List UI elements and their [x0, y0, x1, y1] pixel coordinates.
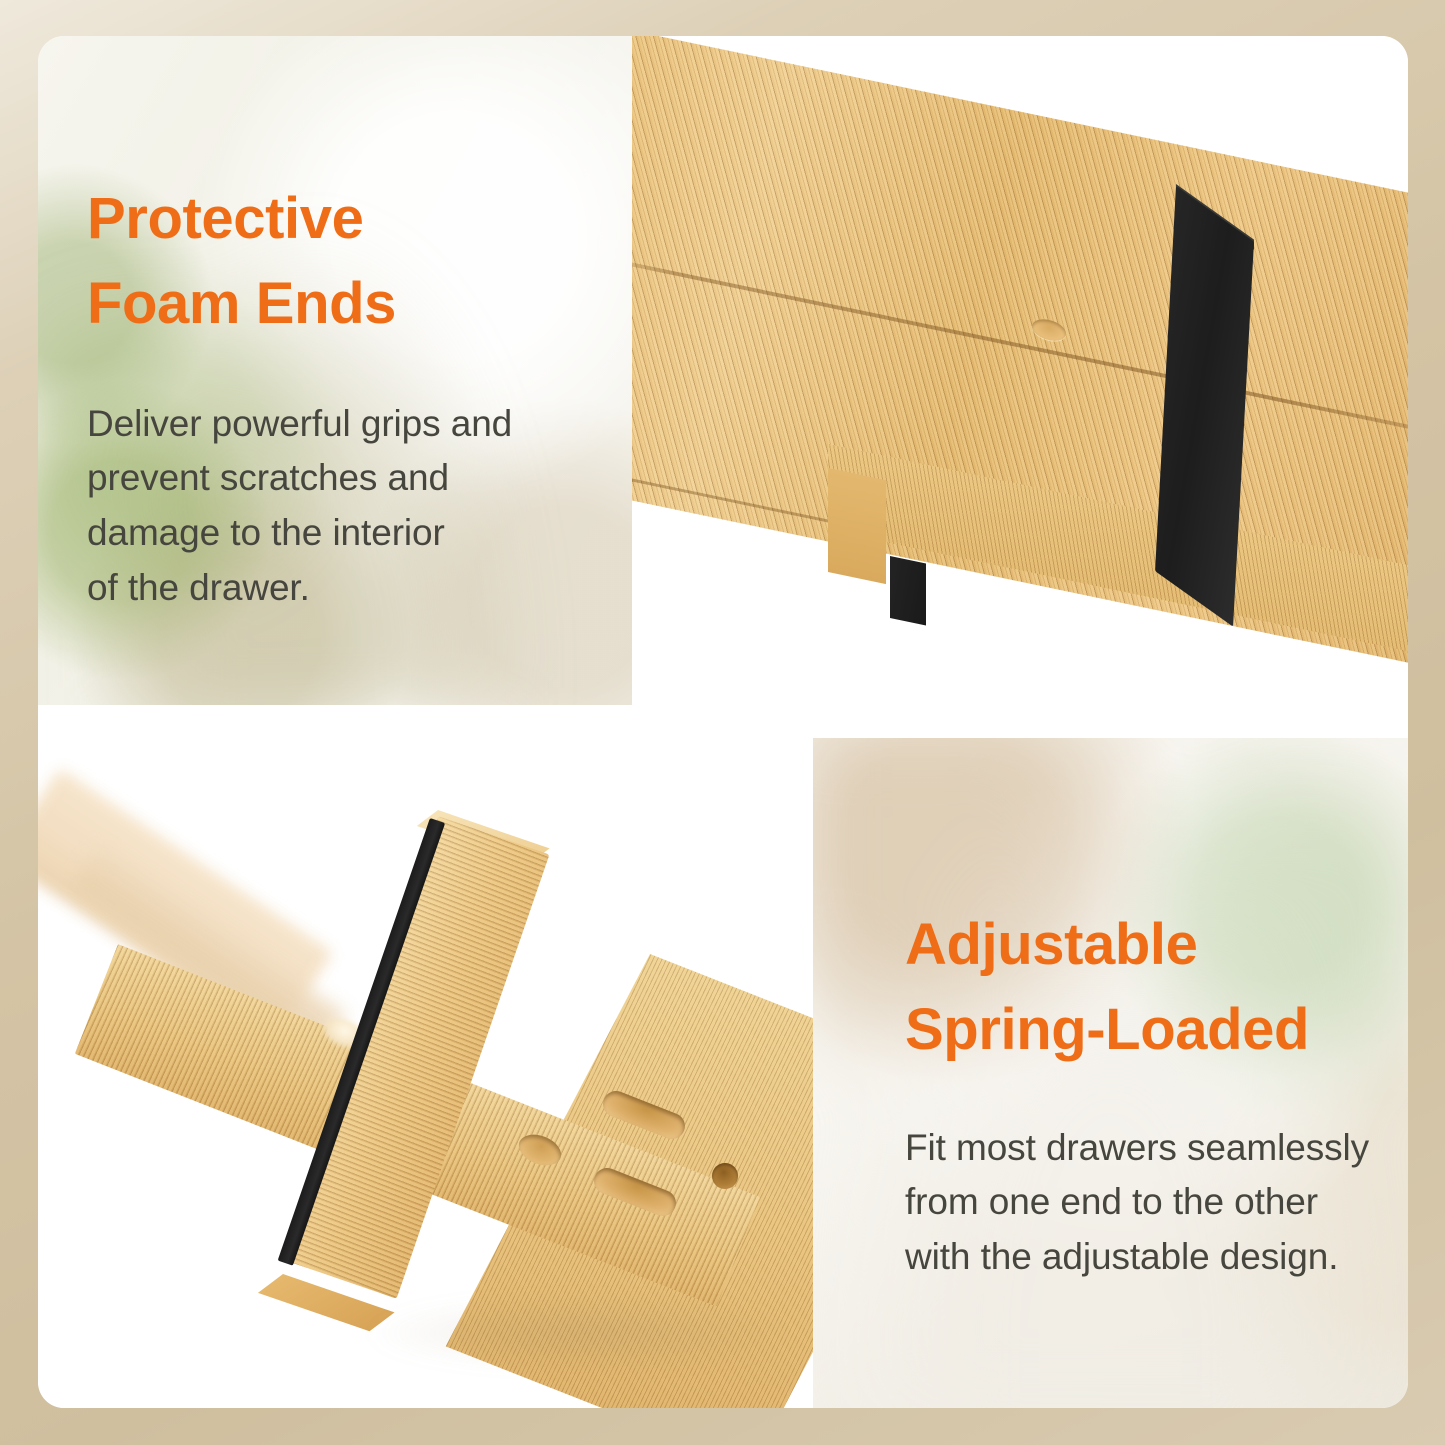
bamboo-board-illustration [632, 36, 1408, 705]
bamboo-parts-illustration [38, 738, 813, 1408]
product-infographic: Protective Foam Ends Deliver powerful gr… [0, 0, 1445, 1445]
text-block-top-left: Protective Foam Ends Deliver powerful gr… [87, 176, 607, 616]
photo-panel-foam-end-closeup [632, 36, 1408, 705]
body-protective-foam-ends: Deliver powerful grips and prevent scrat… [87, 397, 607, 616]
headline-adjustable-spring-loaded: Adjustable Spring-Loaded [905, 902, 1408, 1073]
body-adjustable-spring-loaded: Fit most drawers seamlessly from one end… [905, 1121, 1408, 1285]
parts-soft-shadow [368, 1298, 798, 1368]
photo-panel-adjustable-parts [38, 738, 813, 1408]
panel-protective-foam-ends: Protective Foam Ends Deliver powerful gr… [38, 36, 632, 705]
panel-adjustable-spring-loaded: Adjustable Spring-Loaded Fit most drawer… [813, 738, 1408, 1408]
text-block-bottom-right: Adjustable Spring-Loaded Fit most drawer… [905, 902, 1408, 1285]
board-left-end [828, 468, 886, 584]
panel-screw-hole [712, 1163, 738, 1189]
infographic-card: Protective Foam Ends Deliver powerful gr… [38, 36, 1408, 1408]
foam-cap-bottom-tip [890, 556, 926, 626]
headline-protective-foam-ends: Protective Foam Ends [87, 176, 607, 347]
